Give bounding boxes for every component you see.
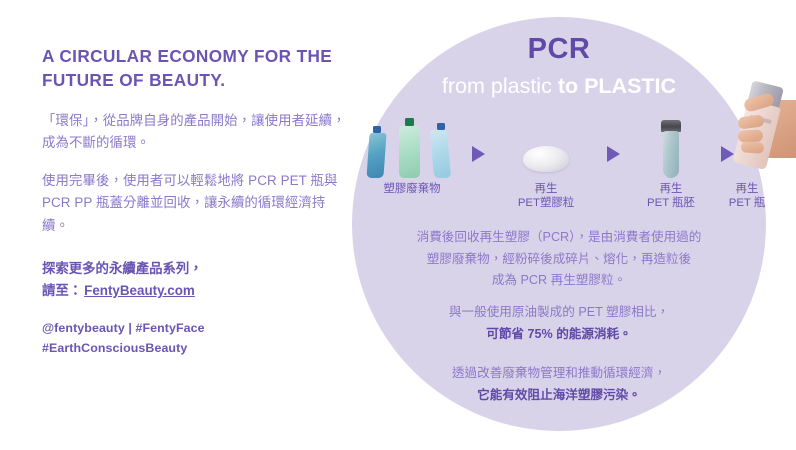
step-label-waste: 塑膠廢棄物 (364, 182, 460, 196)
fentybeauty-link[interactable]: FentyBeauty.com (84, 280, 195, 301)
intro-paragraph: 「環保」，從品牌自身的產品開始，讓使用者延續，成為不斷的循環。 (42, 110, 352, 155)
pellets-icon (498, 116, 594, 178)
arrow-icon-2 (607, 146, 620, 162)
subtitle-light-part: from plastic (442, 74, 558, 98)
crushed-bottle-blue (368, 126, 385, 178)
infographic-canvas: A CIRCULAR ECONOMY FOR THE FUTURE OF BEA… (0, 0, 796, 450)
cta-line-2: 請至： FentyBeauty.com (42, 280, 352, 301)
pcr-title: PCR (352, 35, 766, 64)
description-pcr-definition: 消費後回收再生塑膠（PCR），是由消費者使用過的 塑膠廢棄物，經粉碎後成碎片、熔… (352, 227, 766, 292)
hand-holding-bottle-icon (688, 98, 796, 178)
social-handles: @fentybeauty | #FentyFace #EarthConsciou… (42, 318, 352, 358)
finger-ring (738, 130, 763, 143)
process-step-pellets: 再生 PET塑膠粒 (498, 116, 594, 211)
step-label-pellets: 再生 PET塑膠粒 (498, 182, 594, 211)
social-line-2[interactable]: #EarthConsciousBeauty (42, 338, 352, 358)
crushed-bottle-green (399, 118, 420, 178)
step-label-bottle: 再生 PET 瓶 (646, 182, 796, 211)
arrow-icon-1 (472, 146, 485, 162)
subtitle-bold-part: to PLASTIC (558, 74, 676, 98)
process-step-waste: 塑膠廢棄物 (364, 116, 460, 196)
description-energy-saving: 與一般使用原油製成的 PET 塑膠相比， 可節省 75% 的能源消耗。 (352, 302, 766, 345)
right-panel: PCR from plastic to PLASTIC 塑膠廢棄物 (352, 0, 796, 450)
crushed-bottles-icon (364, 116, 460, 178)
finger-pinky (741, 141, 765, 154)
pcr-subtitle: from plastic to PLASTIC (352, 75, 766, 99)
headline: A CIRCULAR ECONOMY FOR THE FUTURE OF BEA… (42, 44, 352, 93)
process-step-bottle: 再生 PET 瓶 (688, 98, 796, 211)
description-ocean-pollution: 透過改善廢棄物管理和推動循環經濟， 它能有效阻止海洋塑膠污染。 (352, 363, 766, 406)
cta-prefix: 請至： (42, 280, 82, 301)
social-line-1[interactable]: @fentybeauty | #FentyFace (42, 318, 352, 338)
recycling-paragraph: 使用完畢後，使用者可以輕鬆地將 PCR PET 瓶與 PCR PP 瓶蓋分離並回… (42, 170, 352, 238)
left-text-column: A CIRCULAR ECONOMY FOR THE FUTURE OF BEA… (42, 44, 352, 358)
crushed-bottle-lightblue (432, 123, 449, 178)
cta-line-1: 探索更多的永續產品系列， (42, 258, 352, 279)
process-flow: 塑膠廢棄物 再生 PET塑膠粒 (358, 116, 796, 216)
cta-block: 探索更多的永續產品系列， 請至： FentyBeauty.com (42, 258, 352, 301)
energy-saving-stat: 可節省 75% 的能源消耗。 (486, 327, 632, 341)
ocean-pollution-stat: 它能有效阻止海洋塑膠污染。 (477, 388, 641, 402)
